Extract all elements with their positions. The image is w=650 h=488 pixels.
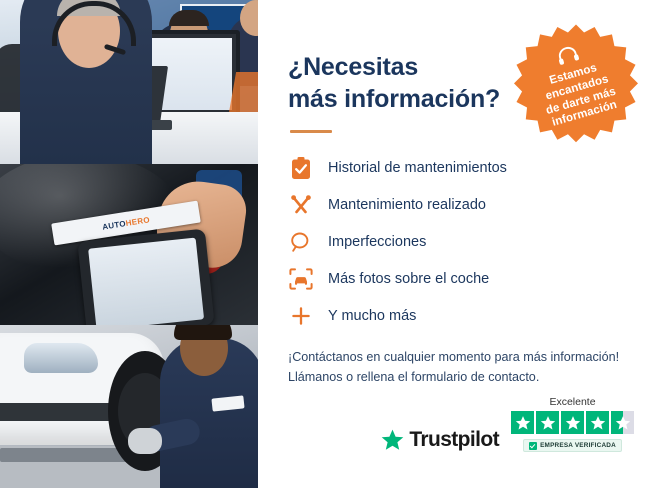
contact-line-1: ¡Contáctanos en cualquier momento para m… bbox=[288, 347, 622, 367]
clipboard-check-icon bbox=[288, 155, 314, 181]
headline-line-2: más información? bbox=[288, 85, 500, 113]
star-2 bbox=[536, 411, 559, 434]
list-item-label: Imperfecciones bbox=[328, 234, 426, 250]
inspection-tablet bbox=[77, 229, 214, 325]
page-title: ¿Necesitas más información? bbox=[288, 52, 533, 115]
list-item-historial: Historial de mantenimientos bbox=[288, 155, 622, 181]
photo-call-center-agents-headsets bbox=[0, 0, 258, 164]
headline-line-1: ¿Necesitas bbox=[288, 53, 418, 81]
star-1 bbox=[511, 411, 534, 434]
list-item-imperfecciones: Imperfecciones bbox=[288, 229, 622, 255]
star-4 bbox=[586, 411, 609, 434]
title-divider bbox=[290, 130, 332, 133]
contact-line-2: Llámanos o rellena el formulario de cont… bbox=[288, 367, 622, 387]
list-item-label: Más fotos sobre el coche bbox=[328, 271, 489, 287]
plus-icon bbox=[288, 303, 314, 329]
list-item-fotos: Más fotos sobre el coche bbox=[288, 266, 622, 292]
rating-stars bbox=[511, 411, 634, 434]
status-badge: Estamos encantados de darte más informac… bbox=[514, 22, 638, 146]
car-headlight bbox=[24, 343, 98, 373]
wrench-screwdriver-icon bbox=[288, 192, 314, 218]
trustpilot-star-icon bbox=[380, 428, 405, 452]
trustpilot-widget[interactable]: Trustpilot Excelente EMPRESA VERIFICADA bbox=[380, 396, 634, 452]
photo-collage: AUTOHERO bbox=[0, 0, 258, 488]
list-item-label: Historial de mantenimientos bbox=[328, 160, 507, 176]
feature-list: Historial de mantenimientos Mantenimient… bbox=[288, 155, 622, 329]
contact-text: ¡Contáctanos en cualquier momento para m… bbox=[288, 347, 622, 387]
magnifier-icon bbox=[288, 229, 314, 255]
mechanic-glove bbox=[128, 428, 162, 454]
star-3 bbox=[561, 411, 584, 434]
car-focus-frame-icon bbox=[288, 266, 314, 292]
list-item-mantenimiento: Mantenimiento realizado bbox=[288, 192, 622, 218]
trustpilot-rating: Excelente EMPRESA VERIFICADA bbox=[511, 396, 634, 452]
trustpilot-brand-name: Trustpilot bbox=[409, 428, 499, 452]
verified-company-badge: EMPRESA VERIFICADA bbox=[523, 439, 622, 452]
mechanic-hair bbox=[174, 325, 232, 340]
photo-inspection-ruler-tablet-on-car: AUTOHERO bbox=[0, 164, 258, 325]
content-panel: ¿Necesitas más información? Historial de… bbox=[258, 0, 650, 488]
badge-text: Estamos encantados de darte más informac… bbox=[522, 55, 637, 136]
promo-banner: AUTOHERO ¿Necesitas más información? bbox=[0, 0, 650, 488]
check-icon bbox=[529, 442, 537, 450]
verified-label: EMPRESA VERIFICADA bbox=[540, 442, 616, 449]
rating-label: Excelente bbox=[549, 396, 595, 408]
list-item-mucho-mas: Y mucho más bbox=[288, 303, 622, 329]
trustpilot-logo: Trustpilot bbox=[380, 428, 499, 452]
star-5-partial bbox=[611, 411, 634, 434]
photo-mechanic-inspecting-wheel bbox=[0, 325, 258, 488]
list-item-label: Y mucho más bbox=[328, 308, 416, 324]
list-item-label: Mantenimiento realizado bbox=[328, 197, 486, 213]
